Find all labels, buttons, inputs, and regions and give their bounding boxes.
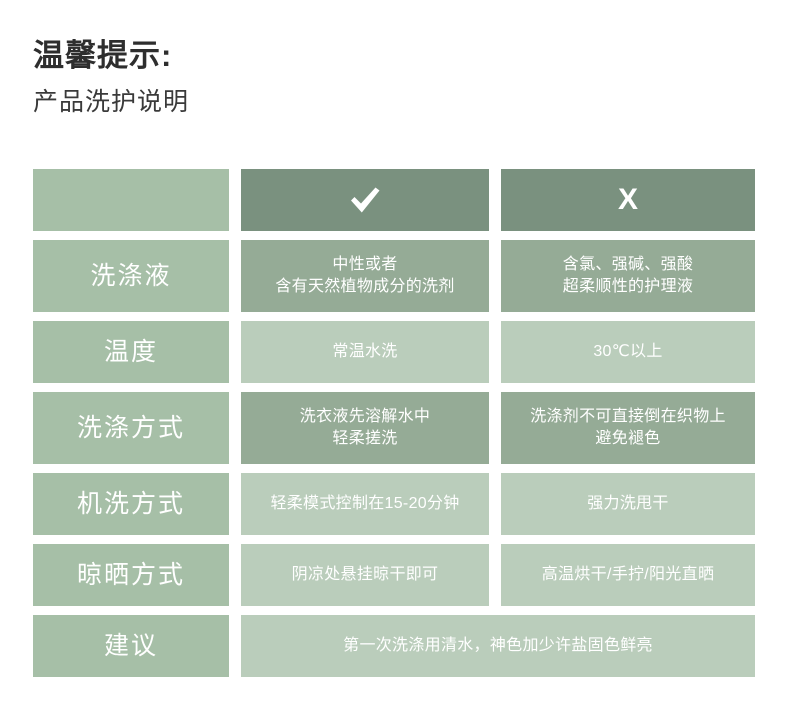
column-gap [229,392,241,464]
table-row-advice: 建议 第一次洗涤用清水，神色加少许盐固色鲜亮 [33,615,755,677]
column-gap [489,321,501,383]
care-instructions-table: X 洗涤液 中性或者 含有天然植物成分的洗剂 含氯、强碱、强酸 超柔顺性的护理液… [33,169,755,677]
row-dont-value: 高温烘干/手拧/阳光直晒 [501,544,755,606]
row-label: 温度 [33,321,229,383]
table-row: 洗涤液 中性或者 含有天然植物成分的洗剂 含氯、强碱、强酸 超柔顺性的护理液 [33,240,755,312]
advice-value: 第一次洗涤用清水，神色加少许盐固色鲜亮 [241,615,755,677]
row-do-value: 常温水洗 [241,321,489,383]
row-label: 洗涤液 [33,240,229,312]
row-label: 晾晒方式 [33,544,229,606]
table-header-row: X [33,169,755,231]
column-gap [229,321,241,383]
cross-icon: X [618,185,638,215]
header-dont-cell: X [501,169,755,231]
table-row: 温度 常温水洗 30℃以上 [33,321,755,383]
row-label: 建议 [33,615,229,677]
header-label-cell [33,169,229,231]
table-row: 晾晒方式 阴凉处悬挂晾干即可 高温烘干/手拧/阳光直晒 [33,544,755,606]
heading-block: 温馨提示: 产品洗护说明 [33,36,533,119]
column-gap [229,615,241,677]
column-gap [489,169,501,231]
row-label: 洗涤方式 [33,392,229,464]
column-gap [489,544,501,606]
table-row: 洗涤方式 洗衣液先溶解水中 轻柔搓洗 洗涤剂不可直接倒在织物上 避免褪色 [33,392,755,464]
page-subtitle: 产品洗护说明 [33,85,533,119]
care-instructions-page: 温馨提示: 产品洗护说明 X 洗涤液 中性或者 含有天然植物成分的 [0,0,790,714]
column-gap [229,169,241,231]
row-do-value: 中性或者 含有天然植物成分的洗剂 [241,240,489,312]
check-icon [348,156,382,244]
row-label: 机洗方式 [33,473,229,535]
row-do-value: 阴凉处悬挂晾干即可 [241,544,489,606]
header-do-cell [241,169,489,231]
column-gap [489,392,501,464]
row-dont-value: 强力洗甩干 [501,473,755,535]
row-dont-value: 30℃以上 [501,321,755,383]
table-row: 机洗方式 轻柔模式控制在15-20分钟 强力洗甩干 [33,473,755,535]
column-gap [489,240,501,312]
page-title: 温馨提示: [33,36,533,76]
column-gap [229,473,241,535]
column-gap [229,544,241,606]
row-dont-value: 含氯、强碱、强酸 超柔顺性的护理液 [501,240,755,312]
row-do-value: 轻柔模式控制在15-20分钟 [241,473,489,535]
column-gap [489,473,501,535]
column-gap [229,240,241,312]
row-dont-value: 洗涤剂不可直接倒在织物上 避免褪色 [501,392,755,464]
row-do-value: 洗衣液先溶解水中 轻柔搓洗 [241,392,489,464]
